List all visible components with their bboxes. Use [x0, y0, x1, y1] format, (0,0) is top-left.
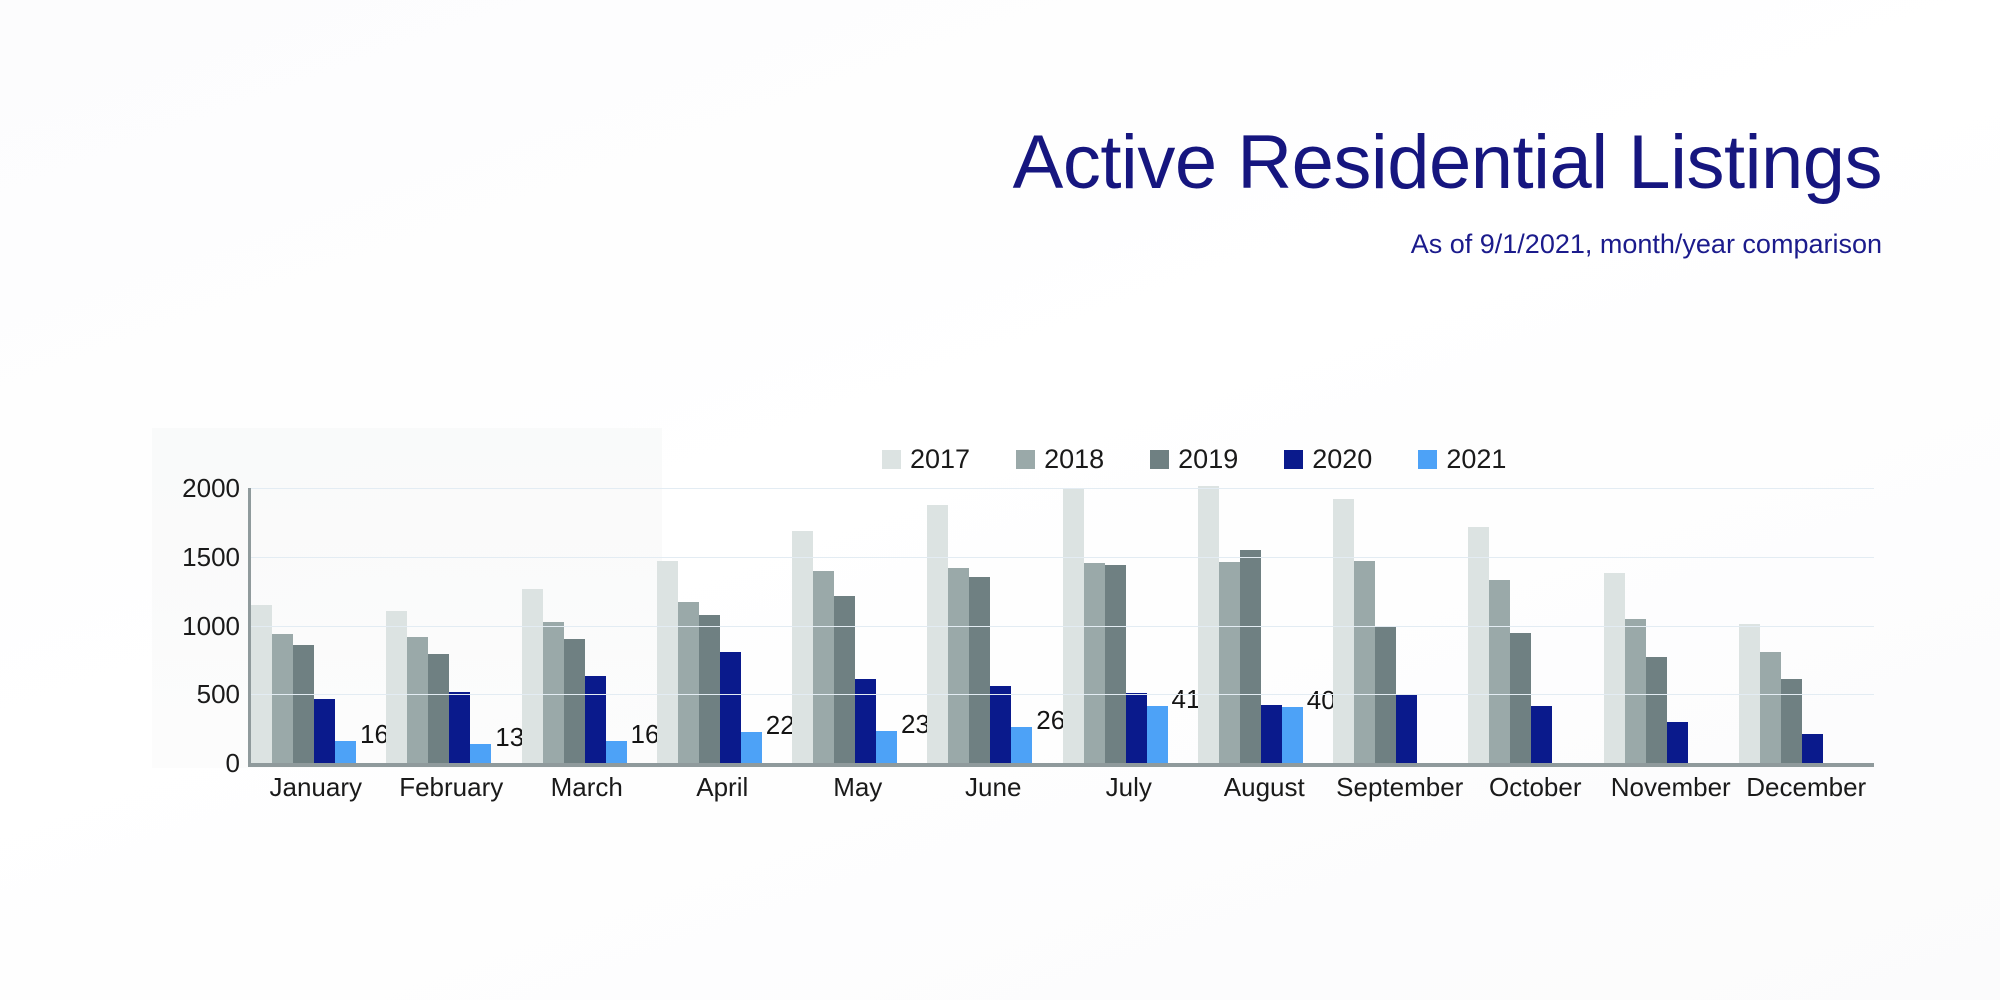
bar-2020[interactable]: [855, 679, 876, 763]
bar-2018[interactable]: [1219, 562, 1240, 763]
legend-label: 2017: [910, 446, 970, 473]
bar-2020[interactable]: [1667, 722, 1688, 763]
bar-2019[interactable]: [834, 596, 855, 763]
x-axis-tick-label: August: [1197, 772, 1333, 802]
bar-2020[interactable]: [449, 692, 470, 763]
x-axis-tick-label: April: [655, 772, 791, 802]
bar-2020[interactable]: [1261, 705, 1282, 763]
bar-2017[interactable]: [1604, 573, 1625, 763]
legend-swatch-icon: [1284, 450, 1303, 469]
bar-2020[interactable]: [990, 686, 1011, 763]
legend-swatch-icon: [1016, 450, 1035, 469]
bar-2021[interactable]: 136: [470, 744, 491, 763]
bar-2020[interactable]: [585, 676, 606, 763]
y-axis: 2000150010005000: [152, 488, 240, 763]
chart-container: 20172018201920202021 2000150010005000 16…: [152, 428, 1874, 826]
bar-2021[interactable]: 265: [1011, 727, 1032, 763]
x-axis-tick-label: January: [248, 772, 384, 802]
y-axis-tick-label: 1000: [182, 613, 240, 639]
gridline: [251, 626, 1874, 627]
legend-swatch-icon: [1150, 450, 1169, 469]
bar-2018[interactable]: [407, 637, 428, 764]
x-axis-tick-label: December: [1739, 772, 1875, 802]
slide-canvas: Active Residential Listings As of 9/1/20…: [0, 0, 2000, 1000]
bar-2020[interactable]: [1126, 693, 1147, 763]
y-axis-tick-label: 2000: [182, 475, 240, 501]
bar-2019[interactable]: [293, 645, 314, 763]
plot-wrapper: 2000150010005000 16313616322923626541840…: [152, 488, 1874, 763]
legend-swatch-icon: [1418, 450, 1437, 469]
bar-2020[interactable]: [1396, 695, 1417, 763]
legend-item-2017[interactable]: 2017: [882, 446, 970, 473]
bar-2019[interactable]: [1646, 657, 1667, 763]
bar-2019[interactable]: [1240, 550, 1261, 763]
bar-2021[interactable]: 163: [335, 741, 356, 763]
title-block: Active Residential Listings As of 9/1/20…: [0, 120, 1882, 260]
x-axis-tick-label: February: [384, 772, 520, 802]
x-axis-tick-label: March: [519, 772, 655, 802]
gridline: [251, 557, 1874, 558]
page-title: Active Residential Listings: [0, 120, 1882, 206]
bar-2020[interactable]: [720, 652, 741, 763]
gridline: [251, 694, 1874, 695]
bar-2021[interactable]: 229: [741, 732, 762, 763]
legend-label: 2019: [1178, 446, 1238, 473]
bar-2018[interactable]: [1084, 563, 1105, 763]
bar-2017[interactable]: [522, 589, 543, 763]
bar-2019[interactable]: [969, 577, 990, 763]
bar-2020[interactable]: [314, 699, 335, 763]
bar-2021[interactable]: 236: [876, 731, 897, 763]
bar-2018[interactable]: [272, 634, 293, 763]
legend-label: 2018: [1044, 446, 1104, 473]
legend-item-2021[interactable]: 2021: [1418, 446, 1506, 473]
bar-2017[interactable]: [792, 531, 813, 763]
x-axis-tick-label: November: [1603, 772, 1739, 802]
bar-2021[interactable]: 418: [1147, 706, 1168, 763]
bar-2018[interactable]: [813, 571, 834, 763]
bar-2019[interactable]: [564, 639, 585, 763]
bar-2018[interactable]: [1489, 580, 1510, 763]
chart-legend: 20172018201920202021: [882, 446, 1506, 473]
bar-2019[interactable]: [428, 654, 449, 763]
bar-2018[interactable]: [1625, 619, 1646, 763]
y-axis-tick-label: 0: [226, 750, 240, 776]
legend-label: 2021: [1446, 446, 1506, 473]
x-axis-tick-label: October: [1468, 772, 1604, 802]
bar-2018[interactable]: [948, 568, 969, 763]
bar-2017[interactable]: [1468, 527, 1489, 763]
bar-2019[interactable]: [1510, 633, 1531, 763]
legend-swatch-icon: [882, 450, 901, 469]
x-axis-tick-label: September: [1332, 772, 1468, 802]
x-axis: JanuaryFebruaryMarchAprilMayJuneJulyAugu…: [248, 772, 1874, 802]
bar-2017[interactable]: [1333, 499, 1354, 763]
bar-2019[interactable]: [1105, 565, 1126, 763]
page-subtitle: As of 9/1/2021, month/year comparison: [0, 228, 1882, 260]
x-axis-tick-label: June: [926, 772, 1062, 802]
bar-2019[interactable]: [699, 615, 720, 763]
y-axis-tick-label: 500: [197, 681, 240, 707]
legend-item-2020[interactable]: 2020: [1284, 446, 1372, 473]
bar-2018[interactable]: [1354, 561, 1375, 763]
bar-2017[interactable]: [927, 505, 948, 763]
gridline: [251, 488, 1874, 489]
x-axis-tick-label: May: [790, 772, 926, 802]
bar-2020[interactable]: [1531, 706, 1552, 763]
legend-item-2018[interactable]: 2018: [1016, 446, 1104, 473]
bar-2017[interactable]: [251, 605, 272, 763]
bar-2017[interactable]: [657, 561, 678, 763]
plot-area: 163136163229236265418408: [248, 488, 1874, 767]
bar-2021[interactable]: 163: [606, 741, 627, 763]
legend-label: 2020: [1312, 446, 1372, 473]
bar-2018[interactable]: [543, 622, 564, 763]
bar-2021[interactable]: 408: [1282, 707, 1303, 763]
x-axis-tick-label: July: [1061, 772, 1197, 802]
bar-2018[interactable]: [1760, 652, 1781, 763]
y-axis-tick-label: 1500: [182, 544, 240, 570]
bar-2019[interactable]: [1781, 679, 1802, 763]
bar-2020[interactable]: [1802, 734, 1823, 763]
legend-item-2019[interactable]: 2019: [1150, 446, 1238, 473]
bar-2017[interactable]: [386, 611, 407, 763]
